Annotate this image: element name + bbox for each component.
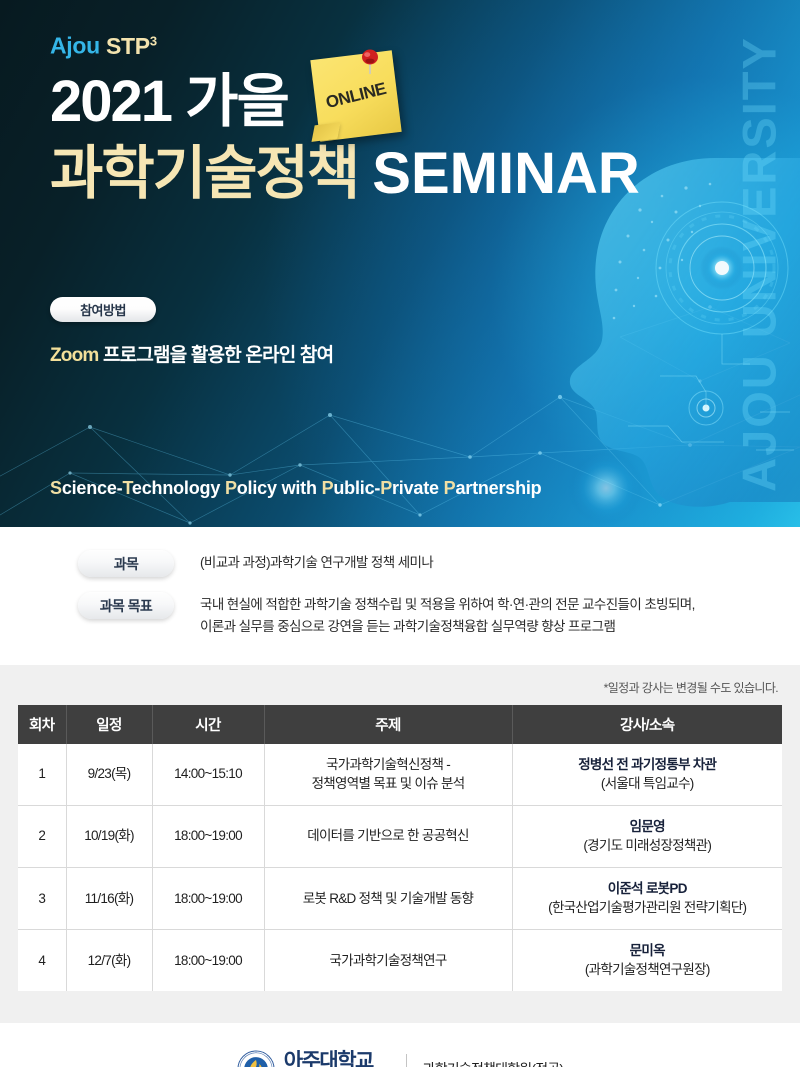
header-speaker: 강사/소속	[512, 705, 782, 744]
cell-time: 18:00~19:00	[152, 929, 264, 991]
poster-root: AJOU UNIVERSITY Ajou STP3 2021 가을 과학기술정책…	[0, 0, 800, 1067]
cell-speaker: 임문영 (경기도 미래성장정책관)	[512, 805, 782, 867]
schedule-disclaimer: *일정과 강사는 변경될 수도 있습니다.	[18, 679, 782, 696]
cell-speaker: 정병선 전 과기정통부 차관 (서울대 특임교수)	[512, 744, 782, 806]
university-name-block: 아주대학교 AJOU UNIVERSITY	[284, 1051, 390, 1067]
course-goal-row: 과목 목표 국내 현실에 적합한 과학기술 정책수립 및 적용을 위하여 학·연…	[0, 591, 800, 639]
hero-tagline: Science-Technology Policy with Public-Pr…	[50, 478, 541, 499]
participation-method-badge: 참여방법	[50, 297, 156, 322]
speaker-name: 정병선 전 과기정통부 차관	[519, 755, 777, 775]
table-row: 1 9/23(목) 14:00~15:10 국가과학기술혁신정책 - 정책영역별…	[18, 744, 782, 806]
hero-title-line1-text: 2021 가을	[50, 69, 288, 134]
table-row: 3 11/16(화) 18:00~19:00 로봇 R&D 정책 및 기술개발 …	[18, 867, 782, 929]
course-goal-value: 국내 현실에 적합한 과학기술 정책수립 및 적용을 위하여 학·연·관의 전문…	[200, 591, 695, 639]
speaker-name: 임문영	[519, 817, 777, 837]
cell-topic: 국가과학기술혁신정책 - 정책영역별 목표 및 이슈 분석	[264, 744, 512, 806]
kicker-superscript: 3	[150, 33, 157, 48]
kicker-brand: Ajou	[50, 33, 100, 59]
course-subject-value: (비교과 과정)과학기술 연구개발 정책 세미나	[200, 549, 433, 574]
kicker-program: STP3	[106, 33, 157, 59]
cell-session-no: 1	[18, 744, 66, 806]
hero-title-line2: 과학기술정책 SEMINAR	[50, 142, 800, 206]
cell-date: 9/23(목)	[66, 744, 152, 806]
schedule-section: *일정과 강사는 변경될 수도 있습니다. 회차 일정 시간 주제 강사/소속 …	[0, 665, 800, 1024]
cell-speaker: 문미옥 (과학기술정책연구원장)	[512, 929, 782, 991]
hero-title-line1: 2021 가을	[50, 72, 800, 142]
cell-topic: 로봇 R&D 정책 및 기술개발 동향	[264, 867, 512, 929]
hero-kicker: Ajou STP3	[50, 34, 800, 58]
participation-description: Zoom 프로그램을 활용한 온라인 참여	[50, 340, 800, 367]
cell-time: 18:00~19:00	[152, 867, 264, 929]
cell-session-no: 4	[18, 929, 66, 991]
cell-topic: 국가과학기술정책연구	[264, 929, 512, 991]
speaker-name: 이준석 로봇PD	[519, 879, 777, 899]
participation-rest: 프로그램을 활용한 온라인 참여	[99, 345, 334, 366]
cell-session-no: 3	[18, 867, 66, 929]
online-sticky-note: ONLINE	[315, 55, 397, 137]
cell-time: 14:00~15:10	[152, 744, 264, 806]
course-subject-label: 과목	[78, 550, 174, 577]
footer-divider	[406, 1054, 407, 1067]
speaker-org: (한국산업기술평가관리원 전략기획단)	[519, 898, 777, 918]
cell-date: 10/19(화)	[66, 805, 152, 867]
cell-date: 12/7(화)	[66, 929, 152, 991]
zoom-keyword: Zoom	[50, 345, 99, 366]
speaker-org: (경기도 미래성장정책관)	[519, 836, 777, 856]
cell-date: 11/16(화)	[66, 867, 152, 929]
schedule-header-row: 회차 일정 시간 주제 강사/소속	[18, 705, 782, 744]
cell-session-no: 2	[18, 805, 66, 867]
speaker-org: (서울대 특임교수)	[519, 774, 777, 794]
schedule-table: 회차 일정 시간 주제 강사/소속 1 9/23(목) 14:00~15:10 …	[18, 705, 782, 992]
header-session-no: 회차	[18, 705, 66, 744]
hero-banner: AJOU UNIVERSITY Ajou STP3 2021 가을 과학기술정책…	[0, 0, 800, 527]
speaker-name: 문미옥	[519, 941, 777, 961]
course-subject-row: 과목 (비교과 과정)과학기술 연구개발 정책 세미나	[0, 549, 800, 577]
hero-title-seminar: SEMINAR	[372, 141, 639, 206]
pushpin-icon	[359, 49, 381, 75]
kicker-program-text: STP	[106, 33, 150, 59]
hero-title-korean: 과학기술정책	[50, 141, 358, 206]
table-row: 4 12/7(화) 18:00~19:00 국가과학기술정책연구 문미옥 (과학…	[18, 929, 782, 991]
department-name: 과학기술정책대학원(전공)	[423, 1059, 564, 1067]
cell-topic: 데이터를 기반으로 한 공공혁신	[264, 805, 512, 867]
header-date: 일정	[66, 705, 152, 744]
table-row: 2 10/19(화) 18:00~19:00 데이터를 기반으로 한 공공혁신 …	[18, 805, 782, 867]
ajou-university-seal-icon: AJOU UNIVERSITY	[237, 1050, 275, 1067]
cell-speaker: 이준석 로봇PD (한국산업기술평가관리원 전략기획단)	[512, 867, 782, 929]
cell-time: 18:00~19:00	[152, 805, 264, 867]
course-info-section: 과목 (비교과 과정)과학기술 연구개발 정책 세미나 과목 목표 국내 현실에…	[0, 527, 800, 665]
course-goal-label: 과목 목표	[78, 592, 174, 619]
footer: AJOU UNIVERSITY 아주대학교 AJOU UNIVERSITY 과학…	[0, 1023, 800, 1067]
header-time: 시간	[152, 705, 264, 744]
header-topic: 주제	[264, 705, 512, 744]
speaker-org: (과학기술정책연구원장)	[519, 960, 777, 980]
university-name-ko: 아주대학교	[284, 1051, 390, 1067]
participation-block: 참여방법 Zoom 프로그램을 활용한 온라인 참여	[50, 297, 800, 367]
